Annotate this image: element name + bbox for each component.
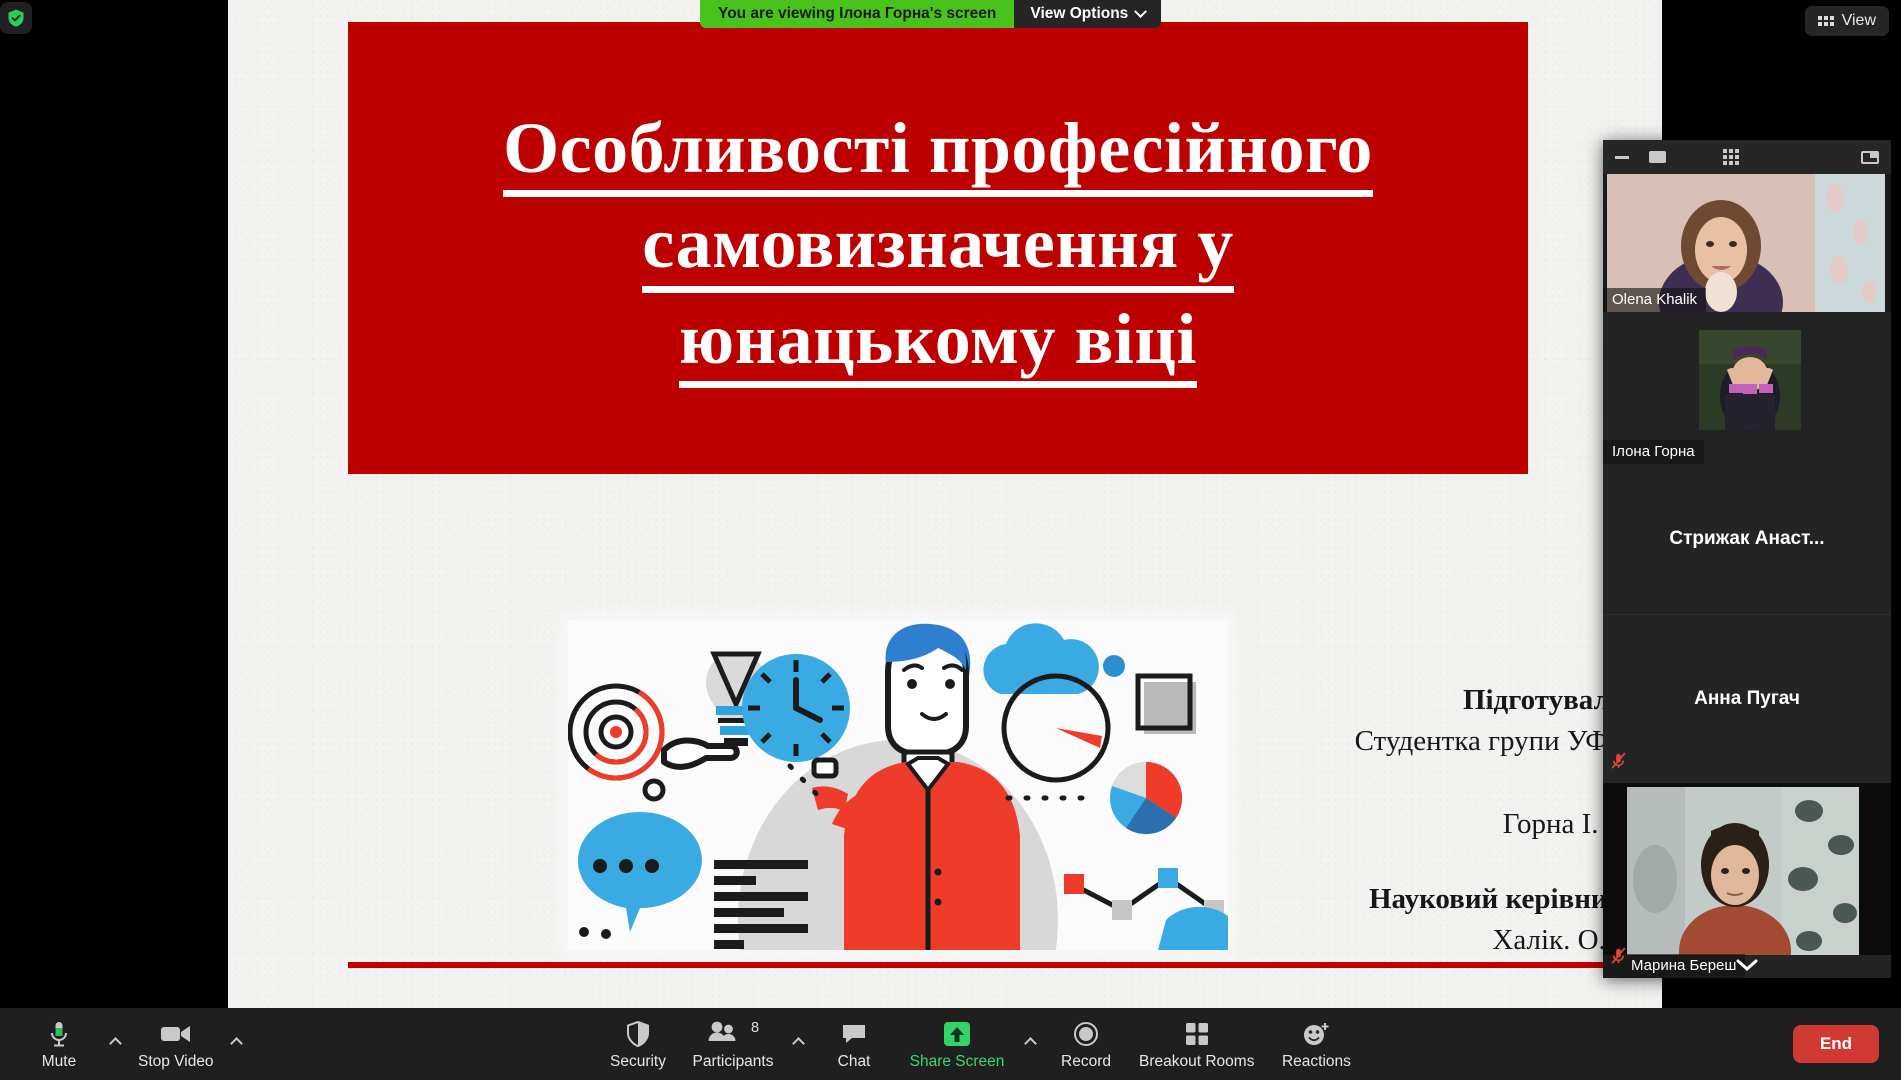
participant-tile-stryzhak[interactable]: Стрижак Анаст... bbox=[1603, 464, 1891, 614]
filmstrip-scroll-down-chevron-icon[interactable] bbox=[1736, 959, 1758, 972]
credit-value-group-number: 18 bbox=[1234, 762, 1634, 803]
chat-bubble-icon bbox=[841, 1020, 867, 1048]
record-icon bbox=[1073, 1020, 1099, 1048]
reactions-icon bbox=[1302, 1020, 1330, 1048]
record-label: Record bbox=[1061, 1053, 1111, 1071]
participants-text: Participants bbox=[693, 1053, 774, 1070]
participant-name: Ілона Горна bbox=[1603, 440, 1704, 464]
control-bar-center-group: Security ​ 8 Participants bbox=[595, 1016, 1368, 1073]
participant-name: Стрижак Анаст... bbox=[1659, 528, 1834, 550]
slide-credits: Підготувала: Студентка групи УФР- 18 Гор… bbox=[1234, 680, 1634, 961]
slide-title-line-2: самовизначення у bbox=[642, 203, 1234, 293]
participants-button[interactable]: ​ 8 Participants bbox=[681, 1016, 785, 1073]
participant-tile-olena-khalik[interactable]: Olena Khalik bbox=[1603, 174, 1891, 312]
participant-name: Анна Пугач bbox=[1684, 688, 1810, 710]
chat-label: Chat bbox=[838, 1053, 871, 1071]
view-options-label: View Options bbox=[1030, 5, 1128, 23]
share-screen-icon bbox=[940, 1020, 974, 1048]
slide-title-band: Особливості професійного самовизначення … bbox=[348, 22, 1528, 474]
screen-share-banner: You are viewing Ілона Горна's screen Vie… bbox=[700, 0, 1161, 28]
speaker-view-icon[interactable] bbox=[1649, 151, 1666, 163]
participants-count-badge: 8 bbox=[751, 1020, 759, 1036]
gallery-view-icon[interactable] bbox=[1723, 149, 1739, 165]
presentation-slide: Особливості професійного самовизначення … bbox=[228, 0, 1662, 1008]
security-button[interactable]: Security bbox=[595, 1016, 681, 1073]
muted-microphone-icon bbox=[1609, 750, 1628, 777]
breakout-rooms-label: Breakout Rooms bbox=[1139, 1053, 1254, 1071]
credit-label-prepared-by: Підготувала: bbox=[1234, 680, 1634, 721]
security-label: Security bbox=[610, 1053, 666, 1071]
reactions-button[interactable]: Reactions bbox=[1264, 1016, 1368, 1073]
credit-value-group: Студентка групи УФР- bbox=[1234, 721, 1634, 762]
slide-illustration bbox=[568, 620, 1228, 950]
shield-check-icon bbox=[6, 8, 26, 28]
popout-icon[interactable] bbox=[1861, 151, 1879, 164]
view-options-button[interactable]: View Options bbox=[1014, 0, 1161, 28]
participants-caret[interactable] bbox=[785, 1016, 811, 1070]
filmstrip-toolbar bbox=[1603, 140, 1891, 174]
zoom-meeting-window: Особливості професійного самовизначення … bbox=[0, 0, 1901, 1080]
shield-icon bbox=[626, 1020, 650, 1048]
credits-spacer bbox=[1234, 845, 1634, 879]
share-options-caret[interactable] bbox=[1017, 1016, 1043, 1070]
participant-tile-ilona-horna[interactable]: Ілона Горна bbox=[1603, 312, 1891, 464]
control-bar-left-group: Mute Stop Video bbox=[0, 1016, 250, 1073]
participant-filmstrip: Olena Khalik Ілона Горна Стрижак bbox=[1603, 140, 1891, 978]
record-button[interactable]: Record bbox=[1043, 1016, 1129, 1073]
microphone-icon bbox=[47, 1020, 71, 1048]
credit-value-student-name: Горна І. А. bbox=[1234, 804, 1634, 845]
breakout-rooms-icon bbox=[1184, 1020, 1210, 1048]
chat-button[interactable]: Chat bbox=[811, 1016, 897, 1073]
participants-icon: ​ 8 bbox=[707, 1020, 759, 1048]
breakout-rooms-button[interactable]: Breakout Rooms bbox=[1129, 1016, 1264, 1073]
slide-bottom-rule bbox=[348, 962, 1648, 968]
stop-video-button[interactable]: Stop Video bbox=[128, 1016, 224, 1073]
video-options-caret[interactable] bbox=[224, 1016, 250, 1070]
video-camera-icon bbox=[160, 1020, 192, 1048]
stop-video-label: Stop Video bbox=[138, 1053, 214, 1071]
mute-button[interactable]: Mute bbox=[16, 1016, 102, 1073]
audio-options-caret[interactable] bbox=[102, 1016, 128, 1070]
meeting-control-bar: Mute Stop Video bbox=[0, 1008, 1901, 1080]
mute-button-label: Mute bbox=[42, 1053, 76, 1071]
view-button-label: View bbox=[1842, 12, 1876, 30]
participant-tile-maryna-beresh[interactable]: Марина Береш bbox=[1603, 783, 1891, 978]
participant-name: Olena Khalik bbox=[1603, 288, 1706, 312]
grid-view-icon bbox=[1818, 16, 1834, 26]
reactions-label: Reactions bbox=[1282, 1053, 1351, 1071]
meeting-security-badge bbox=[0, 2, 32, 34]
share-screen-button[interactable]: Share Screen bbox=[897, 1016, 1017, 1073]
credit-value-supervisor-name: Халік. О.О. bbox=[1234, 920, 1634, 961]
end-meeting-button[interactable]: End bbox=[1793, 1025, 1879, 1063]
muted-microphone-icon bbox=[1609, 945, 1628, 972]
credit-label-supervisor: Науковий керівник: bbox=[1234, 879, 1634, 920]
minimize-icon[interactable] bbox=[1615, 156, 1629, 159]
strip-view-icon[interactable] bbox=[1686, 151, 1703, 164]
chevron-down-icon bbox=[1134, 5, 1147, 18]
sharing-message: You are viewing Ілона Горна's screen bbox=[700, 0, 1014, 28]
share-screen-label: Share Screen bbox=[910, 1053, 1005, 1071]
slide-title-line-1: Особливості професійного bbox=[503, 108, 1373, 198]
view-button[interactable]: View bbox=[1805, 6, 1889, 36]
participant-tile-anna-puhach[interactable]: Анна Пугач bbox=[1603, 615, 1891, 783]
participants-label: Participants bbox=[693, 1053, 774, 1071]
control-bar-right-group: End bbox=[1793, 1025, 1879, 1063]
slide-title-line-3: юнацькому віці bbox=[679, 299, 1197, 389]
